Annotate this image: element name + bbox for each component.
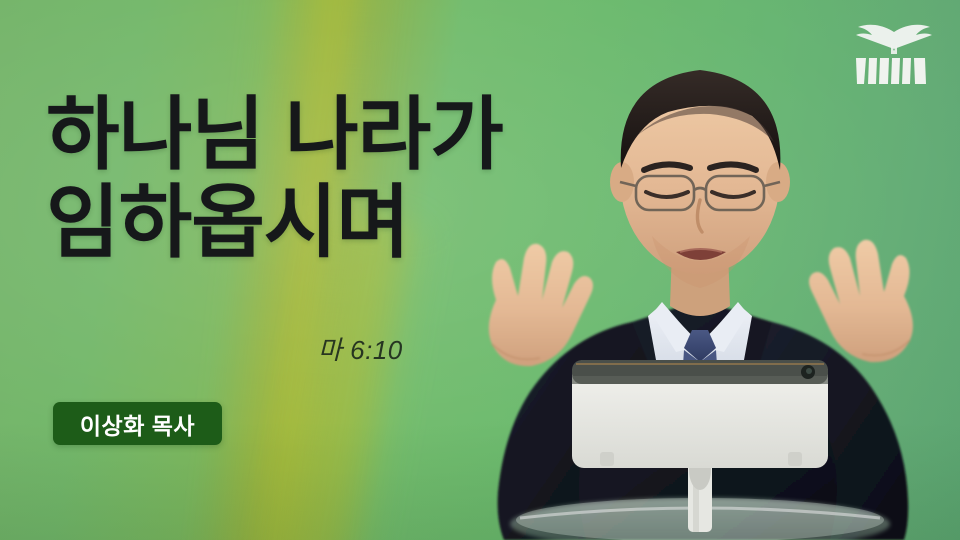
sermon-title-slide: 하나님 나라가 임하옵시며 마 6:10 이상화 목사 (0, 0, 960, 540)
open-book-icon (856, 25, 932, 54)
verse-reference: 마 6:10 (318, 330, 403, 367)
speaker-badge: 이상화 목사 (53, 402, 222, 445)
title-line-1: 하나님 나라가 (46, 96, 606, 174)
title-line-2: 임하옵시며 (46, 184, 606, 262)
sermon-title: 하나님 나라가 임하옵시며 (46, 96, 606, 263)
wmu-wordmark (856, 58, 926, 84)
speaker-name: 이상화 목사 (80, 407, 195, 441)
wmu-logo (848, 14, 940, 90)
